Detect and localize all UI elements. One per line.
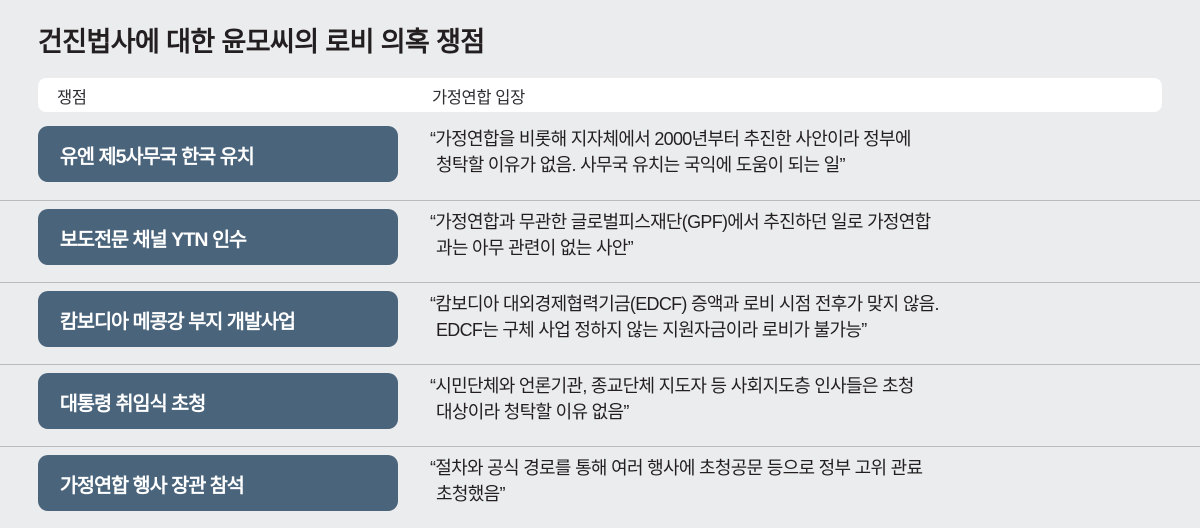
issue-label: 대통령 취임식 초청: [60, 387, 205, 416]
stance-line: EDCF는 구체 사업 정하지 않는 지원자금이라 로비가 불가능”: [430, 318, 1162, 344]
row-content: 보도전문 채널 YTN 인수 “가정연합과 무관한 글로벌피스재단(GPF)에서…: [38, 201, 1162, 282]
issue-label: 보도전문 채널 YTN 인수: [60, 223, 246, 252]
row-content: 유엔 제5사무국 한국 유치 “가정연합을 비롯해 지자체에서 2000년부터 …: [38, 118, 1162, 200]
table-rows: 유엔 제5사무국 한국 유치 “가정연합을 비롯해 지자체에서 2000년부터 …: [0, 118, 1200, 528]
stance-text: “캄보디아 대외경제협력기금(EDCF) 증액과 로비 시점 전후가 맞지 않음…: [430, 292, 1162, 343]
issue-label: 캄보디아 메콩강 부지 개발사업: [60, 305, 295, 334]
column-header-stance: 가정연합 입장: [432, 84, 525, 108]
table-header-bar: 쟁점 가정연합 입장: [38, 78, 1162, 112]
table-row: 캄보디아 메콩강 부지 개발사업 “캄보디아 대외경제협력기금(EDCF) 증액…: [0, 282, 1200, 364]
stance-line: “캄보디아 대외경제협력기금(EDCF) 증액과 로비 시점 전후가 맞지 않음…: [430, 292, 1162, 318]
stance-text: “가정연합과 무관한 글로벌피스재단(GPF)에서 추진하던 일로 가정연합 과…: [430, 210, 1162, 261]
stance-line: “가정연합과 무관한 글로벌피스재단(GPF)에서 추진하던 일로 가정연합: [430, 210, 1162, 236]
stance-line: 과는 아무 관련이 없는 사안”: [430, 236, 1162, 262]
row-content: 가정연합 행사 장관 참석 “절차와 공식 경로를 통해 여러 행사에 초청공문…: [38, 447, 1162, 528]
stance-line: 대상이라 청탁할 이유 없음”: [430, 400, 1162, 426]
issue-pill: 대통령 취임식 초청: [38, 373, 398, 429]
stance-text: “가정연합을 비롯해 지자체에서 2000년부터 추진한 사안이라 정부에 청탁…: [430, 127, 1162, 178]
stance-line: “절차와 공식 경로를 통해 여러 행사에 초청공문 등으로 정부 고위 관료: [430, 456, 1162, 482]
issue-label: 가정연합 행사 장관 참석: [60, 469, 244, 498]
issue-pill: 보도전문 채널 YTN 인수: [38, 209, 398, 265]
row-content: 캄보디아 메콩강 부지 개발사업 “캄보디아 대외경제협력기금(EDCF) 증액…: [38, 283, 1162, 364]
infographic-root: 건진법사에 대한 윤모씨의 로비 의혹 쟁점 쟁점 가정연합 입장 유엔 제5사…: [0, 0, 1200, 525]
table-row: 가정연합 행사 장관 참석 “절차와 공식 경로를 통해 여러 행사에 초청공문…: [0, 446, 1200, 528]
stance-line: 초청했음”: [430, 482, 1162, 508]
stance-text: “절차와 공식 경로를 통해 여러 행사에 초청공문 등으로 정부 고위 관료 …: [430, 456, 1162, 507]
issue-label: 유엔 제5사무국 한국 유치: [60, 140, 254, 169]
stance-text: “시민단체와 언론기관, 종교단체 지도자 등 사회지도층 인사들은 초청 대상…: [430, 374, 1162, 425]
issue-pill: 유엔 제5사무국 한국 유치: [38, 126, 398, 182]
stance-line: “가정연합을 비롯해 지자체에서 2000년부터 추진한 사안이라 정부에: [430, 127, 1162, 153]
issue-pill: 캄보디아 메콩강 부지 개발사업: [38, 291, 398, 347]
table-row: 유엔 제5사무국 한국 유치 “가정연합을 비롯해 지자체에서 2000년부터 …: [0, 118, 1200, 200]
stance-line: 청탁할 이유가 없음. 사무국 유치는 국익에 도움이 되는 일”: [430, 153, 1162, 179]
row-content: 대통령 취임식 초청 “시민단체와 언론기관, 종교단체 지도자 등 사회지도층…: [38, 365, 1162, 446]
stance-line: “시민단체와 언론기관, 종교단체 지도자 등 사회지도층 인사들은 초청: [430, 374, 1162, 400]
issue-pill: 가정연합 행사 장관 참석: [38, 455, 398, 511]
page-title: 건진법사에 대한 윤모씨의 로비 의혹 쟁점: [38, 20, 485, 59]
table-row: 대통령 취임식 초청 “시민단체와 언론기관, 종교단체 지도자 등 사회지도층…: [0, 364, 1200, 446]
column-header-issue: 쟁점: [57, 84, 87, 108]
table-row: 보도전문 채널 YTN 인수 “가정연합과 무관한 글로벌피스재단(GPF)에서…: [0, 200, 1200, 282]
